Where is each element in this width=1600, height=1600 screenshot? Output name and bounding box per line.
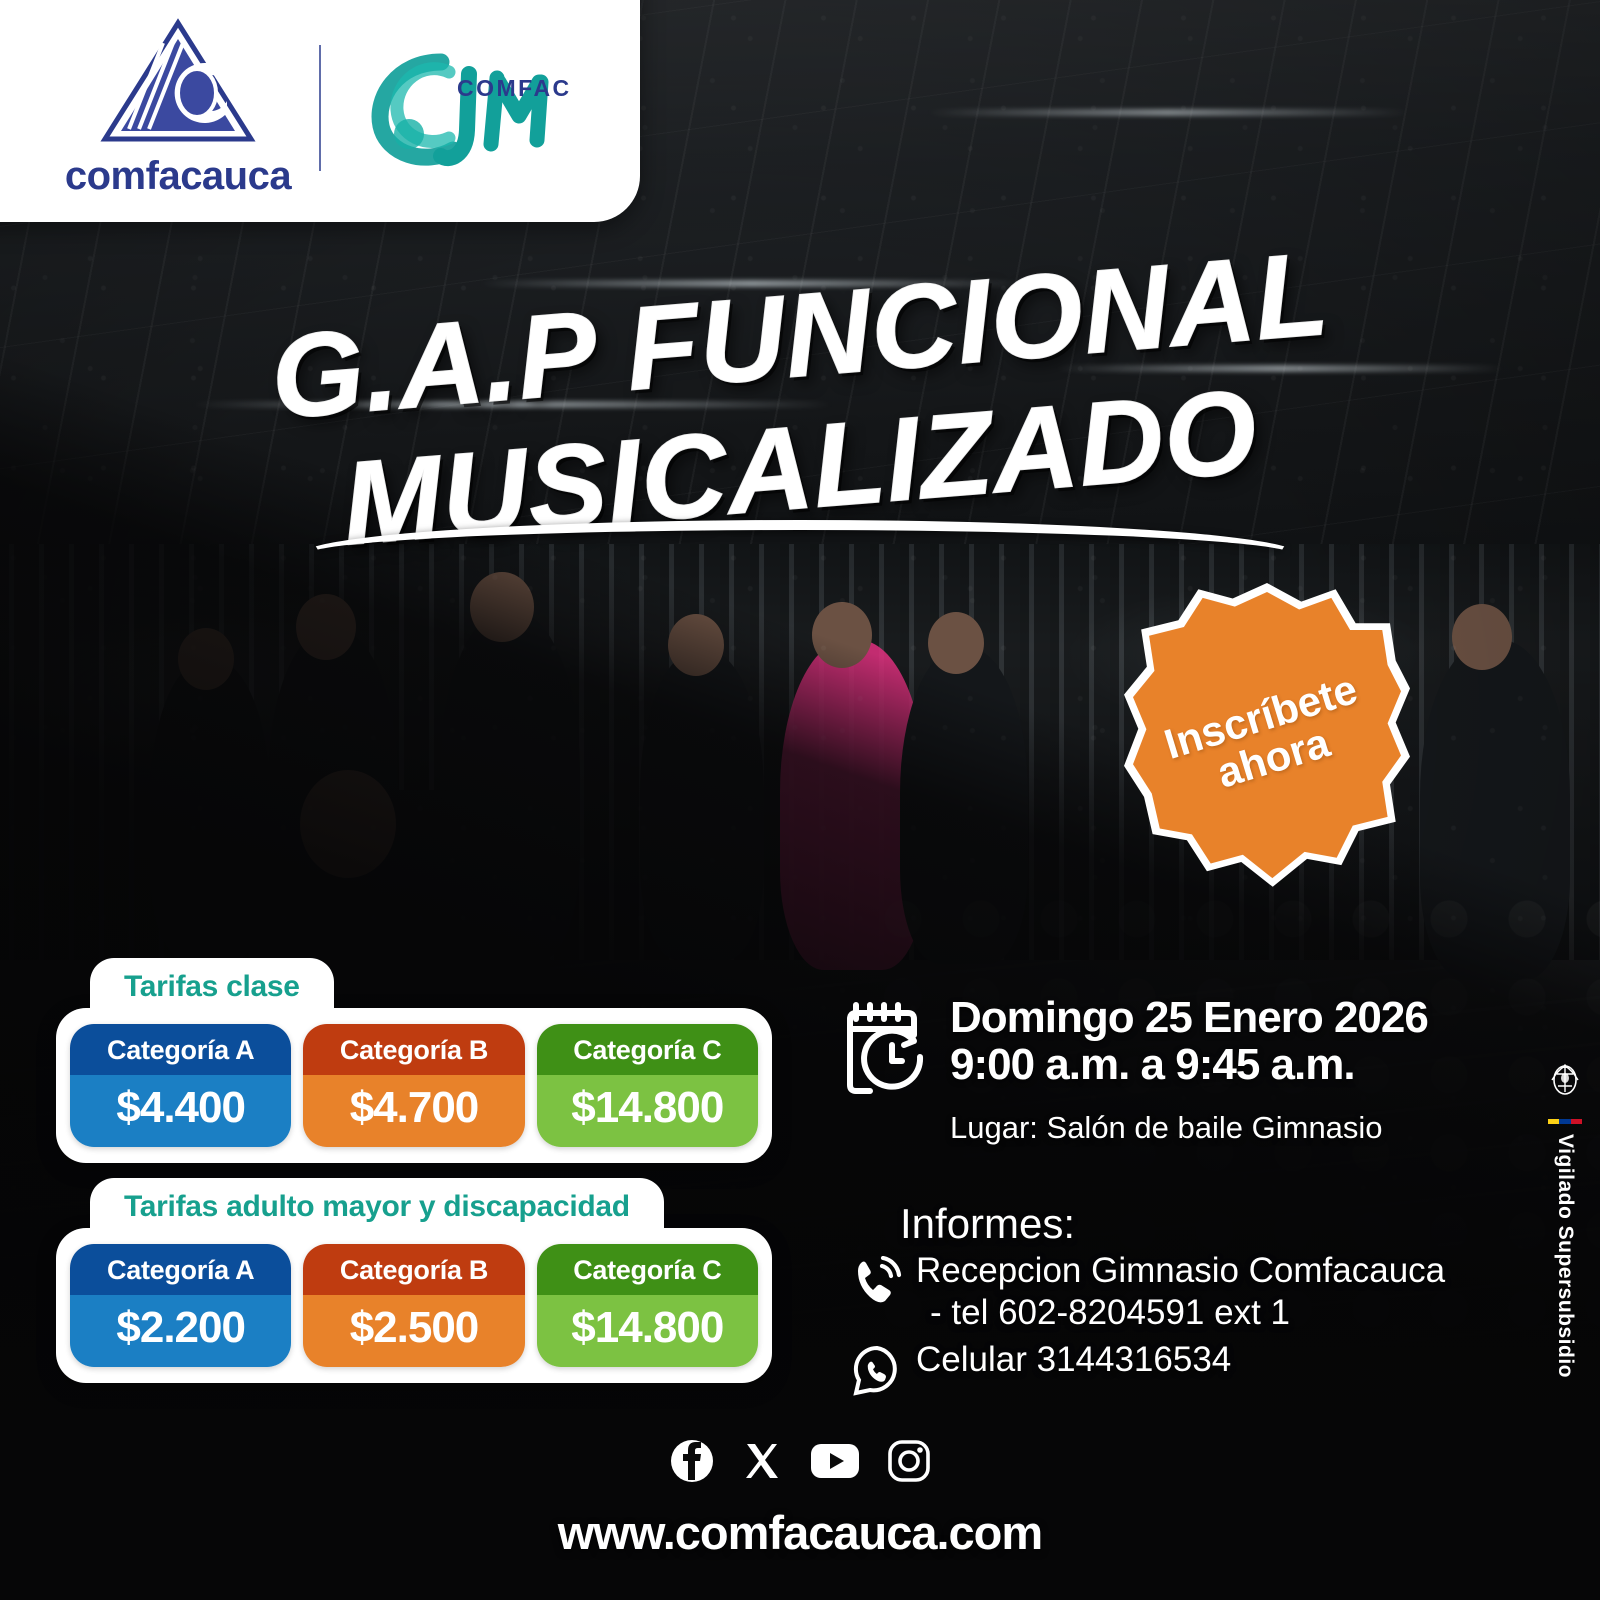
youtube-icon[interactable] [809, 1440, 861, 1487]
inscribete-ahora-badge[interactable]: Inscríbete ahora [1133, 592, 1401, 884]
price-card-c-category: Categoría C [537, 1024, 758, 1075]
colombia-flag-bar [1548, 1119, 1582, 1124]
title-swoosh-decoration [300, 520, 1300, 590]
event-details: Domingo 25 Enero 2026 9:00 a.m. a 9:45 a… [836, 995, 1536, 1146]
phone-ringing-icon [852, 1256, 902, 1313]
price-card-a-2-category: Categoría A [70, 1244, 291, 1295]
contact-whatsapp-row[interactable]: Celular 3144316534 [852, 1339, 1560, 1402]
price-card-b-amount: $4.700 [303, 1075, 524, 1147]
instagram-icon[interactable] [887, 1439, 931, 1488]
price-card-c[interactable]: Categoría C $14.800 [537, 1024, 758, 1147]
contact-info: Informes: Recepcion Gimnasio Comfacauca … [900, 1200, 1560, 1402]
whatsapp-icon [852, 1345, 902, 1402]
pricing-group-senior-disability: Tarifas adulto mayor y discapacidad Cate… [56, 1178, 772, 1383]
contact-whatsapp-line: Celular 3144316534 [916, 1339, 1231, 1382]
event-place: Lugar: Salón de baile Gimnasio [950, 1110, 1536, 1146]
contact-phone-line-1: Recepcion Gimnasio Comfacauca [916, 1250, 1445, 1293]
price-card-a[interactable]: Categoría A $4.400 [70, 1024, 291, 1147]
price-card-a-2-amount: $2.200 [70, 1295, 291, 1367]
price-card-b-category: Categoría B [303, 1024, 524, 1075]
facebook-icon[interactable] [669, 1438, 715, 1489]
event-date: Domingo 25 Enero 2026 [950, 995, 1428, 1042]
promo-poster: comfacauca COMFACAUCA G.A.P FUNCIONAL MU… [0, 0, 1600, 1600]
pricing-heading-tab: Tarifas clase [90, 958, 334, 1014]
logo-panel: comfacauca COMFACAUCA [0, 0, 640, 222]
pricing-card-row: Categoría A $4.400 Categoría B $4.700 Ca… [56, 1008, 772, 1163]
comfacauca-wordmark: comfacauca [65, 154, 291, 199]
x-twitter-icon[interactable] [741, 1440, 783, 1487]
comfacauca-triangle-logo-icon [99, 17, 257, 150]
price-card-c-amount: $14.800 [537, 1075, 758, 1147]
price-card-b-2-category: Categoría B [303, 1244, 524, 1295]
pricing-group-class: Tarifas clase Categoría A $4.400 Categor… [56, 958, 772, 1163]
regulator-label: Vigilado Supersubsidio [1553, 1134, 1577, 1378]
contact-phone-row[interactable]: Recepcion Gimnasio Comfacauca - tel 602-… [852, 1250, 1560, 1333]
contact-phone-line-2: - tel 602-8204591 ext 1 [930, 1293, 1445, 1333]
regulator-notice: Vigilado Supersubsidio [1548, 1060, 1582, 1378]
pricing-heading-label: Tarifas clase [124, 970, 300, 1003]
price-card-a-category: Categoría A [70, 1024, 291, 1075]
contact-title: Informes: [900, 1200, 1560, 1248]
comfacauca-gym-logo-icon: COMFACAUCA [349, 38, 569, 178]
calendar-clock-icon [836, 999, 932, 1102]
colombia-coat-of-arms-icon [1548, 1060, 1582, 1109]
pricing-heading-label-2: Tarifas adulto mayor y discapacidad [124, 1190, 630, 1223]
social-links [0, 1438, 1600, 1489]
price-card-a-2[interactable]: Categoría A $2.200 [70, 1244, 291, 1367]
price-card-c-2[interactable]: Categoría C $14.800 [537, 1244, 758, 1367]
price-card-b-2-amount: $2.500 [303, 1295, 524, 1367]
logo-divider [319, 45, 321, 171]
website-url[interactable]: www.comfacauca.com [0, 1505, 1600, 1560]
price-card-b-2[interactable]: Categoría B $2.500 [303, 1244, 524, 1367]
pricing-card-row-2: Categoría A $2.200 Categoría B $2.500 Ca… [56, 1228, 772, 1383]
price-card-a-amount: $4.400 [70, 1075, 291, 1147]
pricing-heading-tab-2: Tarifas adulto mayor y discapacidad [90, 1178, 664, 1234]
price-card-c-2-amount: $14.800 [537, 1295, 758, 1367]
comfacauca-logo: comfacauca [65, 17, 291, 199]
event-time: 9:00 a.m. a 9:45 a.m. [950, 1042, 1428, 1089]
price-card-b[interactable]: Categoría B $4.700 [303, 1024, 524, 1147]
poster-footer: www.comfacauca.com [0, 1438, 1600, 1560]
price-card-c-2-category: Categoría C [537, 1244, 758, 1295]
svg-text:COMFACAUCA: COMFACAUCA [457, 75, 569, 101]
